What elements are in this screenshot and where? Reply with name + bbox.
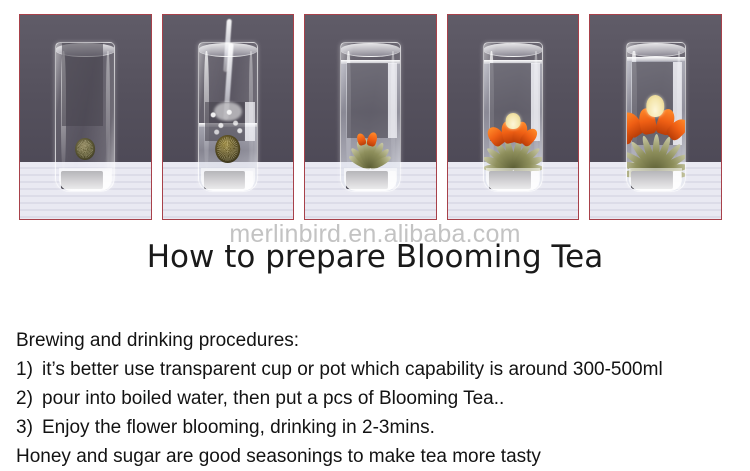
tea-bloom-full xyxy=(633,89,678,172)
drinking-glass xyxy=(198,42,258,193)
instructions-block: Brewing and drinking procedures: 1)it’s … xyxy=(16,326,734,471)
dry-tea-ball xyxy=(75,138,95,160)
instruction-item-2: 2)pour into boiled water, then put a pcs… xyxy=(16,384,734,413)
instruction-marker: 1) xyxy=(16,355,42,384)
glass-highlight-right xyxy=(106,51,110,170)
instruction-marker: 3) xyxy=(16,413,42,442)
flower-petal xyxy=(366,132,379,148)
wet-tea-ball xyxy=(215,135,241,163)
water-surface-line xyxy=(627,57,685,61)
brewing-steps-photo-strip xyxy=(19,14,722,220)
glass-base xyxy=(629,168,682,192)
glass-base xyxy=(486,168,539,192)
scene-3 xyxy=(305,15,436,219)
instruction-marker: 2) xyxy=(16,384,42,413)
glass-base xyxy=(201,168,254,192)
water-bubbles xyxy=(209,105,244,138)
scene-1 xyxy=(20,15,151,219)
instructions-heading: Brewing and drinking procedures: xyxy=(16,326,734,355)
drinking-glass xyxy=(626,42,686,193)
refraction-band xyxy=(62,43,103,126)
step-photo-1 xyxy=(19,14,152,220)
step-photo-4 xyxy=(447,14,580,220)
drinking-glass xyxy=(340,42,400,193)
instruction-text: it’s better use transparent cup or pot w… xyxy=(42,359,663,380)
cream-blossom xyxy=(505,113,520,129)
instruction-item-3: 3)Enjoy the flower blooming, drinking in… xyxy=(16,413,734,442)
glass-base xyxy=(59,168,112,192)
step-photo-2 xyxy=(162,14,295,220)
glass-base xyxy=(344,168,397,192)
drinking-glass xyxy=(483,42,543,193)
tea-bloom-opening xyxy=(348,117,393,168)
scene-4 xyxy=(448,15,579,219)
scene-5 xyxy=(590,15,721,219)
tea-bloom-half-open xyxy=(490,104,535,170)
page-title: How to prepare Blooming Tea xyxy=(0,239,750,275)
instruction-text: pour into boiled water, then put a pcs o… xyxy=(42,388,504,409)
step-photo-5 xyxy=(589,14,722,220)
instructions-footer: Honey and sugar are good seasonings to m… xyxy=(16,442,734,471)
step-photo-3 xyxy=(304,14,437,220)
refraction-band-pale xyxy=(245,102,254,141)
cream-blossom xyxy=(647,95,665,117)
instruction-text: Enjoy the flower blooming, drinking in 2… xyxy=(42,417,435,438)
instruction-item-1: 1)it’s better use transparent cup or pot… xyxy=(16,355,734,384)
scene-2 xyxy=(163,15,294,219)
drinking-glass xyxy=(55,42,115,193)
